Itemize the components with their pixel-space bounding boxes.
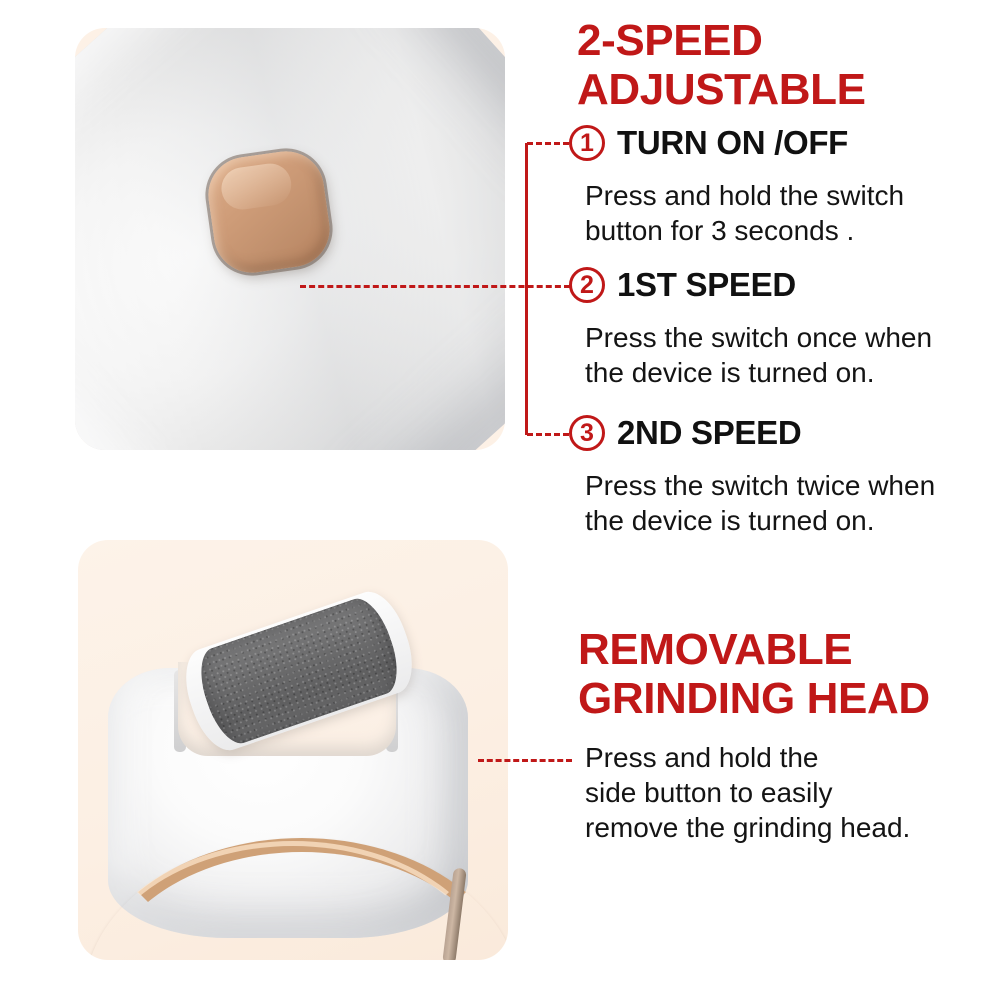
- callout-stub-step-1: [527, 142, 569, 145]
- bottom-headline: REMOVABLE GRINDING HEAD: [578, 625, 998, 723]
- step-1-number: 1: [569, 125, 605, 161]
- top-headline: 2-SPEED ADJUSTABLE: [577, 16, 987, 114]
- step-3: 3 2ND SPEED: [569, 414, 801, 452]
- step-2: 2 1ST SPEED: [569, 266, 796, 304]
- product-photo-power-button: [75, 28, 505, 450]
- callout-leader-side-button: [478, 759, 572, 762]
- step-2-title: 1ST SPEED: [617, 266, 796, 304]
- infographic-page: 2-SPEED ADJUSTABLE 1 TURN ON /OFF Press …: [0, 0, 1000, 1000]
- step-2-number: 2: [569, 267, 605, 303]
- step-2-description: Press the switch once when the device is…: [585, 320, 993, 390]
- rose-gold-ring-highlight: [86, 841, 500, 960]
- product-photo-grinding-head: [78, 540, 508, 960]
- power-button-gloss: [219, 161, 294, 212]
- step-3-title: 2ND SPEED: [617, 414, 801, 452]
- step-1-title: TURN ON /OFF: [617, 124, 848, 162]
- step-3-number: 3: [569, 415, 605, 451]
- callout-spine-vertical: [525, 143, 528, 435]
- callout-stub-step-3: [527, 433, 569, 436]
- bottom-description: Press and hold the side button to easily…: [585, 740, 995, 845]
- power-switch-button: [203, 146, 334, 277]
- callout-leader-power-button: [300, 285, 570, 288]
- step-1: 1 TURN ON /OFF: [569, 124, 848, 162]
- step-3-description: Press the switch twice when the device i…: [585, 468, 993, 538]
- step-1-description: Press and hold the switch button for 3 s…: [585, 178, 985, 248]
